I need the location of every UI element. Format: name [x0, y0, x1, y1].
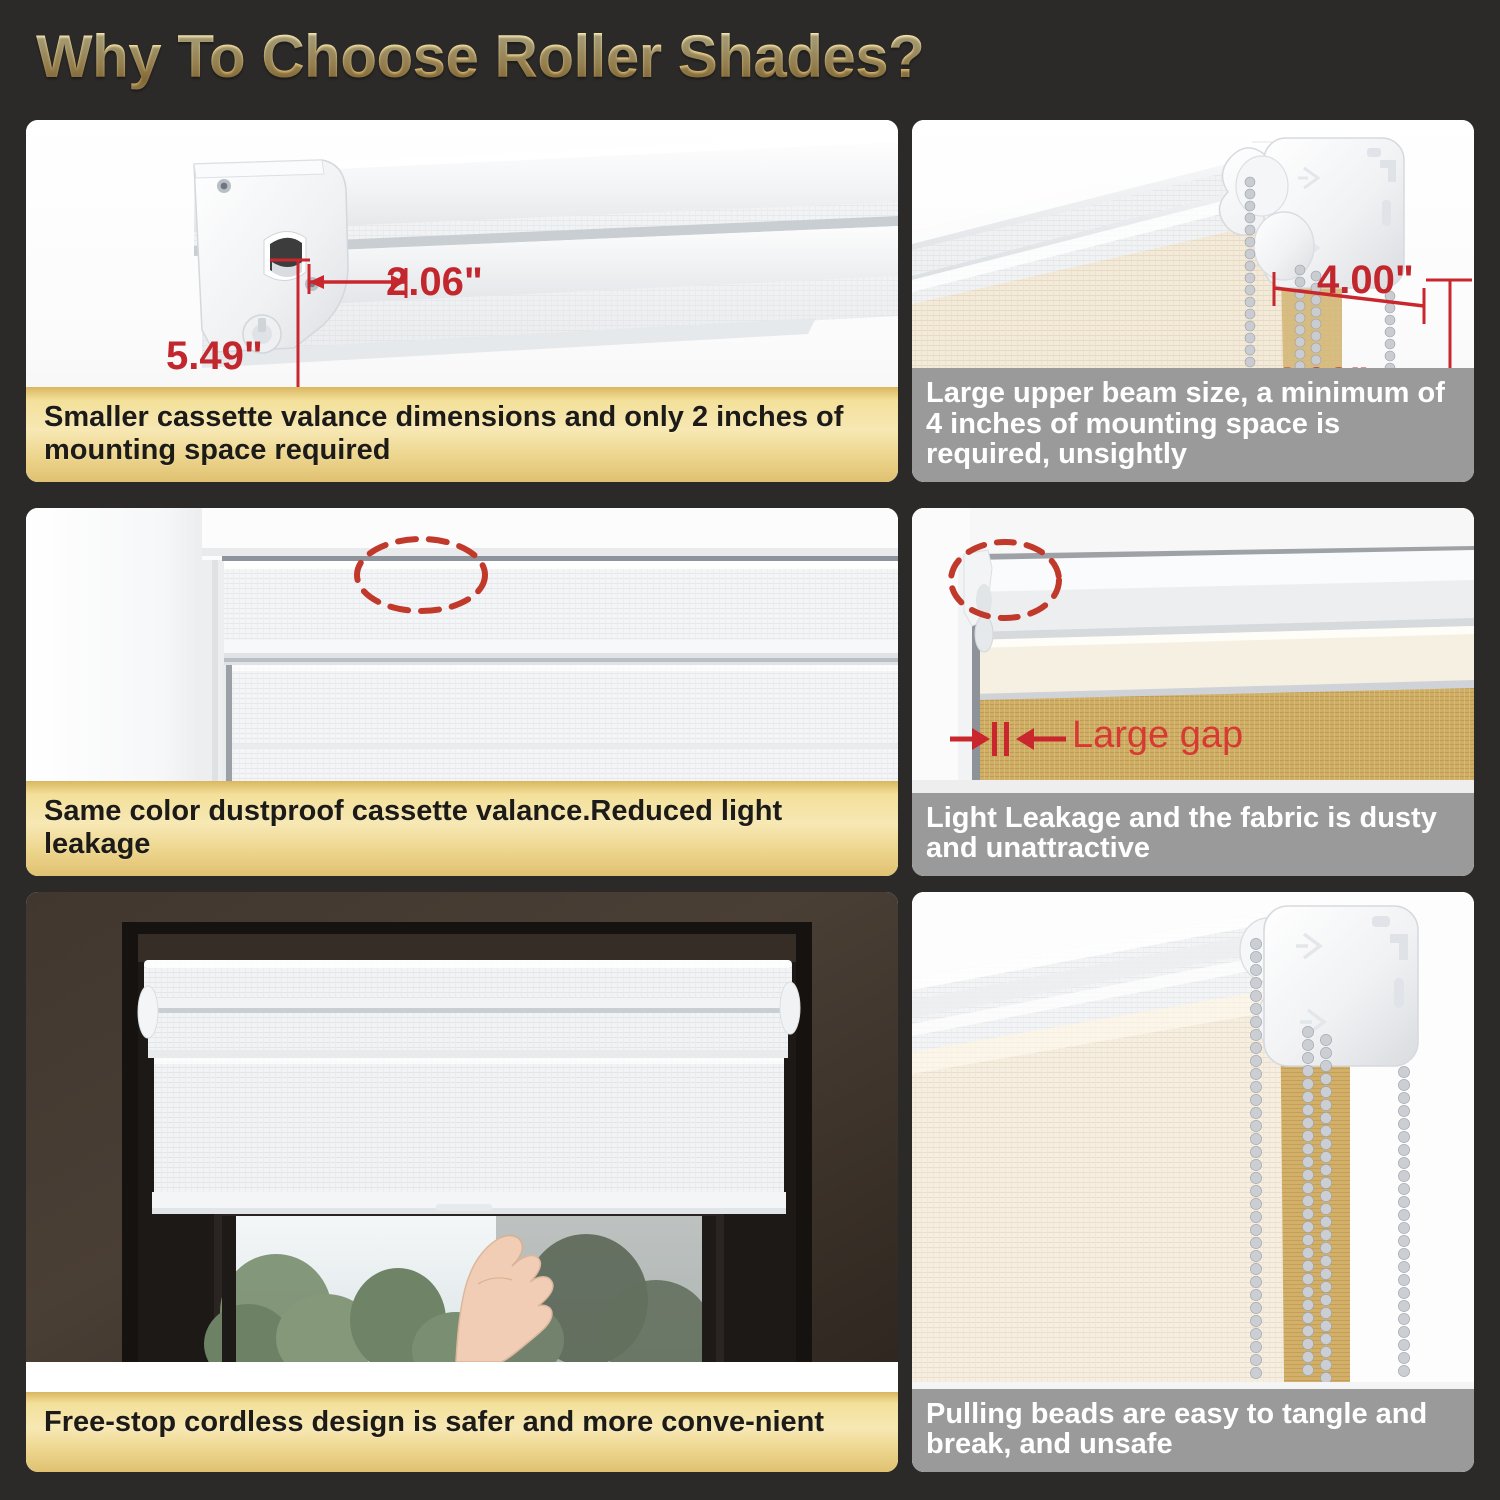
- height-dimension-label: 5.49": [166, 334, 263, 379]
- gap-callout-arrows: [946, 716, 1071, 762]
- panel-bottom-right-caption: Pulling beads are easy to tangle and bre…: [912, 1389, 1474, 1472]
- gap-callout-label: Large gap: [1072, 714, 1243, 757]
- panel-bottom-left-photo: Free-stop cordless design is safer and m…: [26, 892, 898, 1472]
- panel-top-left-caption: Smaller cassette valance dimensions and …: [26, 387, 898, 482]
- panel-middle-left-caption: Same color dustproof cassette valance.Re…: [26, 781, 898, 876]
- panel-bottom-right-photo: [912, 892, 1474, 1472]
- infographic-root: Why To Choose Roller Shades?: [0, 0, 1500, 1500]
- panel-middle-left: smaller gap Same color dustproof cassett…: [26, 508, 898, 876]
- highlight-circle-icon: [346, 530, 496, 620]
- width-dimension-label: 4.00": [1317, 258, 1414, 303]
- panel-bottom-left: Free-stop cordless design is safer and m…: [26, 892, 898, 1472]
- room-window-cordless-shade-illustration: [26, 892, 898, 1362]
- panel-top-left: 2.06" 5.49" Smaller cassette valance dim…: [26, 120, 898, 482]
- panel-middle-right: Large gap Light Leakage and the fabric i…: [912, 508, 1474, 876]
- panel-bottom-right: Pulling beads are easy to tangle and bre…: [912, 892, 1474, 1472]
- roller-shade-bead-chains-illustration: [912, 892, 1474, 1382]
- highlight-circle-icon: [940, 530, 1070, 630]
- panel-top-right: 4.00" 4.00" Large upper beam size, a min…: [912, 120, 1474, 482]
- width-dimension-label: 2.06": [386, 260, 483, 305]
- page-title: Why To Choose Roller Shades?: [36, 22, 924, 91]
- panel-bottom-left-caption: Free-stop cordless design is safer and m…: [26, 1392, 898, 1472]
- panel-top-right-caption: Large upper beam size, a minimum of 4 in…: [912, 368, 1474, 482]
- panel-middle-right-caption: Light Leakage and the fabric is dusty an…: [912, 793, 1474, 876]
